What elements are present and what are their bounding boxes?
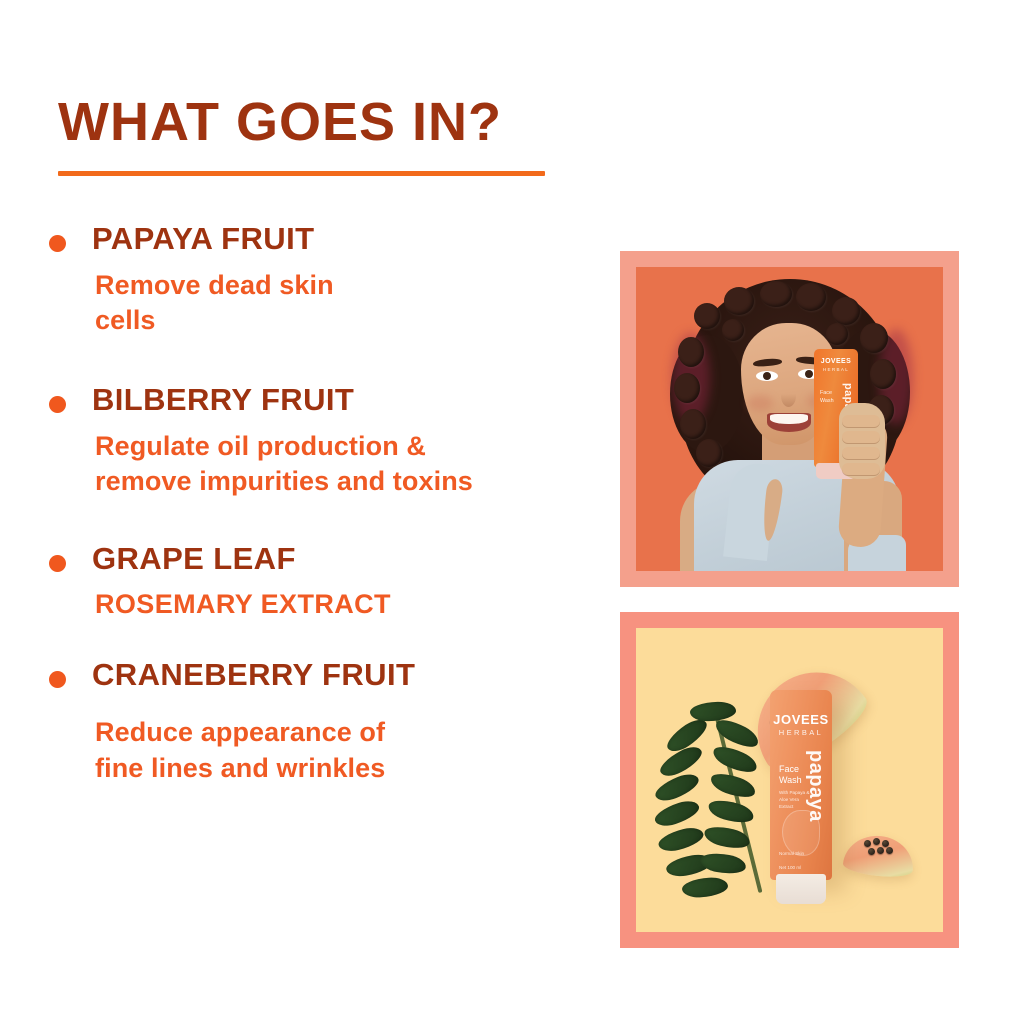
hair-curl <box>826 323 848 345</box>
ingredient-description: ROSEMARY EXTRACT <box>95 587 595 623</box>
finger <box>842 447 880 459</box>
ingredient-name: BILBERRY FRUIT <box>92 383 354 418</box>
content-column: WHAT GOES IN? PAPAYA FRUIT Remove dead s… <box>0 0 612 1024</box>
hair-curl <box>860 323 888 353</box>
ingredient-list: PAPAYA FRUIT Remove dead skin cells BILB… <box>0 222 612 786</box>
hair-curl <box>722 319 744 341</box>
tube-skin-type-text: Normal Skin <box>779 851 804 856</box>
hair-curl <box>760 281 792 307</box>
hair-curl <box>694 303 720 329</box>
page-title: WHAT GOES IN? <box>58 94 502 151</box>
papaya-seed <box>868 848 875 855</box>
tube-type-text: Face Wash <box>779 764 802 787</box>
hair-curl <box>680 409 706 439</box>
tube-size-text: Net 100 ml <box>779 865 801 870</box>
poster-canvas: WHAT GOES IN? PAPAYA FRUIT Remove dead s… <box>0 0 1024 1024</box>
papaya-seed <box>886 847 893 854</box>
leaf <box>652 797 702 829</box>
eye-left <box>756 371 778 381</box>
model-scene: JOVEES HERBAL Face Wash papaya <box>636 267 943 571</box>
papaya-seed <box>864 840 871 847</box>
tube-brand-sub-text: HERBAL <box>770 728 832 737</box>
finger <box>842 463 880 475</box>
tube-cap <box>776 874 826 904</box>
finger <box>842 431 880 443</box>
list-item: GRAPE LEAF ROSEMARY EXTRACT <box>0 542 612 622</box>
leaf <box>652 770 702 805</box>
finger <box>842 415 880 427</box>
tube-type-text: Face Wash <box>820 389 834 405</box>
bullet-dot-icon <box>49 555 66 572</box>
ingredient-heading-row: GRAPE LEAF <box>0 542 612 577</box>
ingredient-description: Reduce appearance of fine lines and wrin… <box>95 715 595 786</box>
title-underline-rule <box>58 171 545 176</box>
hair-curl <box>678 337 704 367</box>
ingredient-name: CRANEBERRY FRUIT <box>92 658 415 693</box>
tube-variant-text: papaya <box>804 750 827 822</box>
model-photo: JOVEES HERBAL Face Wash papaya <box>636 267 943 571</box>
product-photo: JOVEES HERBAL Face Wash With Papaya & Al… <box>636 628 943 932</box>
list-item: CRANEBERRY FRUIT Reduce appearance of fi… <box>0 658 612 786</box>
ingredient-description: Remove dead skin cells <box>95 268 595 339</box>
ingredient-name: PAPAYA FRUIT <box>92 222 314 257</box>
tube-brand-text: JOVEES <box>814 358 858 365</box>
leaf <box>656 825 705 855</box>
hair-curl <box>832 297 860 325</box>
tube-brand-text: JOVEES <box>770 712 832 727</box>
hair-curl <box>696 439 722 467</box>
hair-curl <box>870 359 896 389</box>
hair-curl <box>674 373 700 403</box>
ingredient-name: GRAPE LEAF <box>92 542 296 577</box>
model-photo-frame: JOVEES HERBAL Face Wash papaya <box>620 251 959 587</box>
bullet-dot-icon <box>49 671 66 688</box>
product-tube: JOVEES HERBAL Face Wash With Papaya & Al… <box>770 690 832 880</box>
papaya-seed <box>873 838 880 845</box>
leaf <box>690 701 737 722</box>
leaf <box>706 796 755 827</box>
bullet-dot-icon <box>49 396 66 413</box>
product-photo-frame: JOVEES HERBAL Face Wash With Papaya & Al… <box>620 612 959 948</box>
papaya-seed <box>882 840 889 847</box>
nose-shape <box>781 385 796 407</box>
ingredient-heading-row: BILBERRY FRUIT <box>0 383 612 418</box>
cheek-left <box>747 395 773 411</box>
leaf <box>681 876 728 898</box>
smiling-mouth <box>767 413 811 432</box>
ingredient-heading-row: CRANEBERRY FRUIT <box>0 658 612 693</box>
tube-brand-sub-text: HERBAL <box>814 367 858 372</box>
hair-curl <box>796 283 826 311</box>
ingredient-description: Regulate oil production & remove impurit… <box>95 429 595 500</box>
ingredient-heading-row: PAPAYA FRUIT <box>0 222 612 257</box>
leaf <box>699 850 748 877</box>
product-scene: JOVEES HERBAL Face Wash With Papaya & Al… <box>636 628 943 932</box>
papaya-seed <box>877 847 884 854</box>
hair-curl <box>724 287 754 315</box>
list-item: BILBERRY FRUIT Regulate oil production &… <box>0 383 612 500</box>
list-item: PAPAYA FRUIT Remove dead skin cells <box>0 222 612 339</box>
bullet-dot-icon <box>49 235 66 252</box>
